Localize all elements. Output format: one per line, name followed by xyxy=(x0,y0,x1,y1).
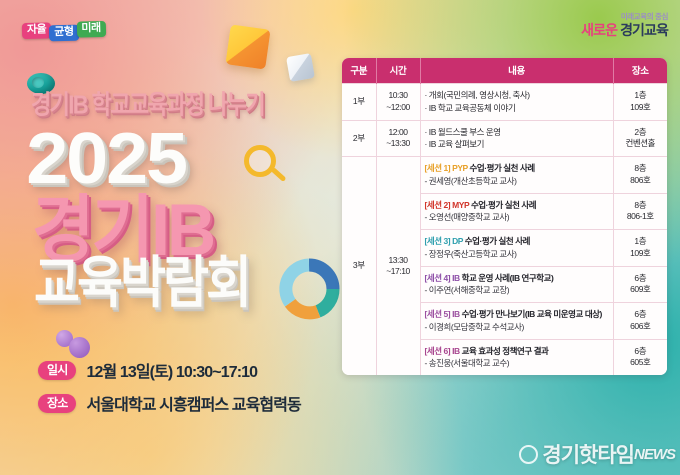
content-line: · IB 학교 교육공동체 이야기 xyxy=(425,102,609,115)
session-speaker: - 권세영(개산초등학교 교사) xyxy=(425,175,609,188)
info-value-date: 12월 13일(토) 10:30~17:10 xyxy=(86,358,257,382)
colored-donut-decoration xyxy=(278,258,340,320)
cell-place: 6층609호 xyxy=(613,266,667,303)
info-label-venue: 장소 xyxy=(38,394,76,413)
schedule-table: 구분 시간 내용 장소 1부10:30~12:00· 개회(국민의례, 영상시청… xyxy=(342,58,667,375)
schedule-table-head: 구분 시간 내용 장소 xyxy=(342,58,667,84)
column-header-time: 시간 xyxy=(376,58,420,84)
yellow-cube-decoration xyxy=(225,24,270,69)
content-line: · IB 월드스쿨 부스 운영 xyxy=(425,126,609,139)
session-speaker: - 이경희(모담중학교 수석교사) xyxy=(425,321,609,334)
cell-content: [세션 1] PYP 수업·평가 실천 사례- 권세영(개산초등학교 교사) xyxy=(420,157,613,194)
cell-place: 6층605호 xyxy=(613,339,667,375)
cell-content: · 개회(국민의례, 영상시청, 축사)· IB 학교 교육공동체 이야기 xyxy=(420,84,613,121)
event-banner-text: 경기IB 학교교육과정 나누기 xyxy=(31,84,264,122)
cell-content: [세션 4] IB 학교 운영 사례(IB 연구학교)- 이주연(서해중학교 교… xyxy=(420,266,613,303)
event-title-sub: 교육박람회 xyxy=(34,255,249,311)
info-label-date: 일시 xyxy=(38,361,76,380)
content-line: · IB 교육 살펴보기 xyxy=(425,138,609,151)
session-title: 수업·평가 만나보기(IB 교육 미운영교 대상) xyxy=(462,309,602,319)
magnifier-icon xyxy=(244,145,290,193)
watermark-text: 경기핫타임 xyxy=(542,439,634,469)
purple-spheres-decoration xyxy=(56,328,94,352)
news-watermark: 경기핫타임 NEWS xyxy=(519,439,675,469)
event-year: 2025 xyxy=(26,123,186,195)
info-value-venue: 서울대학교 시흥캠퍼스 교육협력동 xyxy=(86,391,300,415)
column-header-content: 내용 xyxy=(420,58,613,84)
info-row-venue: 장소 서울대학교 시흥캠퍼스 교육협력동 xyxy=(38,391,301,415)
session-tag: [세션 2] MYP xyxy=(425,200,471,210)
session-speaker: - 장정우(죽산고등학교 교사) xyxy=(425,248,609,261)
cell-time: 10:30~12:00 xyxy=(376,84,420,121)
schedule-table-body: 1부10:30~12:00· 개회(국민의례, 영상시청, 축사)· IB 학교… xyxy=(342,84,667,376)
keyword-balance: 균형 xyxy=(49,25,79,42)
info-row-date: 일시 12월 13일(토) 10:30~17:10 xyxy=(38,358,301,382)
session-title: 교육 효과성 정책연구 결과 xyxy=(462,346,549,356)
table-header-row: 구분 시간 내용 장소 xyxy=(342,58,667,84)
cell-place: 2층컨벤션홀 xyxy=(613,120,667,157)
keyword-future: 미래 xyxy=(76,21,106,38)
org-name: 새로운 경기교육 xyxy=(581,23,668,37)
cell-place: 8층806호 xyxy=(613,157,667,194)
column-header-part: 구분 xyxy=(342,58,376,84)
session-title: 수업·평가 실천 사례 xyxy=(465,236,530,246)
cell-content: [세션 5] IB 수업·평가 만나보기(IB 교육 미운영교 대상)- 이경희… xyxy=(420,303,613,340)
session-speaker: - 이주연(서해중학교 교장) xyxy=(425,284,609,297)
cell-content: · IB 월드스쿨 부스 운영· IB 교육 살펴보기 xyxy=(420,120,613,157)
content-line: · 개회(국민의례, 영상시청, 축사) xyxy=(425,89,609,102)
schedule-table-container: 구분 시간 내용 장소 1부10:30~12:00· 개회(국민의례, 영상시청… xyxy=(342,58,667,375)
session-tag: [세션 1] PYP xyxy=(425,163,470,173)
session-speaker: - 오영선(매양중학교 교사) xyxy=(425,211,609,224)
column-header-place: 장소 xyxy=(613,58,667,84)
cell-place: 6층606호 xyxy=(613,303,667,340)
session-tag: [세션 6] IB xyxy=(425,346,462,356)
cell-content: [세션 6] IB 교육 효과성 정책연구 결과- 송진웅(서울대학교 교수) xyxy=(420,339,613,375)
org-tagline: 미래교육의 중심 xyxy=(581,13,668,21)
session-tag: [세션 3] DP xyxy=(425,236,465,246)
event-poster: 자율 균형 미래 미래교육의 중심 새로운 경기교육 경기IB 학교교육과정 나… xyxy=(0,0,680,475)
session-tag: [세션 5] IB xyxy=(425,309,462,319)
white-cube-decoration xyxy=(286,53,315,82)
session-title: 수업·평가 실천 사례 xyxy=(470,163,535,173)
cell-time: 12:00~13:30 xyxy=(376,120,420,157)
cell-place: 1층109호 xyxy=(613,230,667,267)
cell-place: 1층109호 xyxy=(613,84,667,121)
table-row: 1부10:30~12:00· 개회(국민의례, 영상시청, 축사)· IB 학교… xyxy=(342,84,667,121)
cell-place: 8층806-1호 xyxy=(613,193,667,230)
org-name-rest: 경기교육 xyxy=(620,22,668,38)
watermark-logo-icon xyxy=(519,445,538,464)
session-tag: [세션 4] IB xyxy=(425,273,462,283)
event-info-list: 일시 12월 13일(토) 10:30~17:10 장소 서울대학교 시흥캠퍼스… xyxy=(38,358,301,424)
cell-part: 2부 xyxy=(342,120,376,157)
table-row: 2부12:00~13:30· IB 월드스쿨 부스 운영· IB 교육 살펴보기… xyxy=(342,120,667,157)
keyword-autonomy: 자율 xyxy=(22,22,52,39)
org-name-accent: 새로운 xyxy=(581,22,617,38)
cell-content: [세션 3] DP 수업·평가 실천 사례- 장정우(죽산고등학교 교사) xyxy=(420,230,613,267)
cell-part: 3부 xyxy=(342,157,376,376)
session-title: 수업·평가 실천 사례 xyxy=(471,200,536,210)
table-row: 3부13:30~17:10[세션 1] PYP 수업·평가 실천 사례- 권세영… xyxy=(342,157,667,194)
cell-time: 13:30~17:10 xyxy=(376,157,420,376)
session-title: 학교 운영 사례(IB 연구학교) xyxy=(462,273,554,283)
session-speaker: - 송진웅(서울대학교 교수) xyxy=(425,357,609,370)
organization-logo: 미래교육의 중심 새로운 경기교육 xyxy=(581,13,668,37)
watermark-suffix: NEWS xyxy=(634,446,675,463)
cell-part: 1부 xyxy=(342,84,376,121)
keyword-badge: 자율 균형 미래 xyxy=(22,18,106,42)
cell-content: [세션 2] MYP 수업·평가 실천 사례- 오영선(매양중학교 교사) xyxy=(420,193,613,230)
